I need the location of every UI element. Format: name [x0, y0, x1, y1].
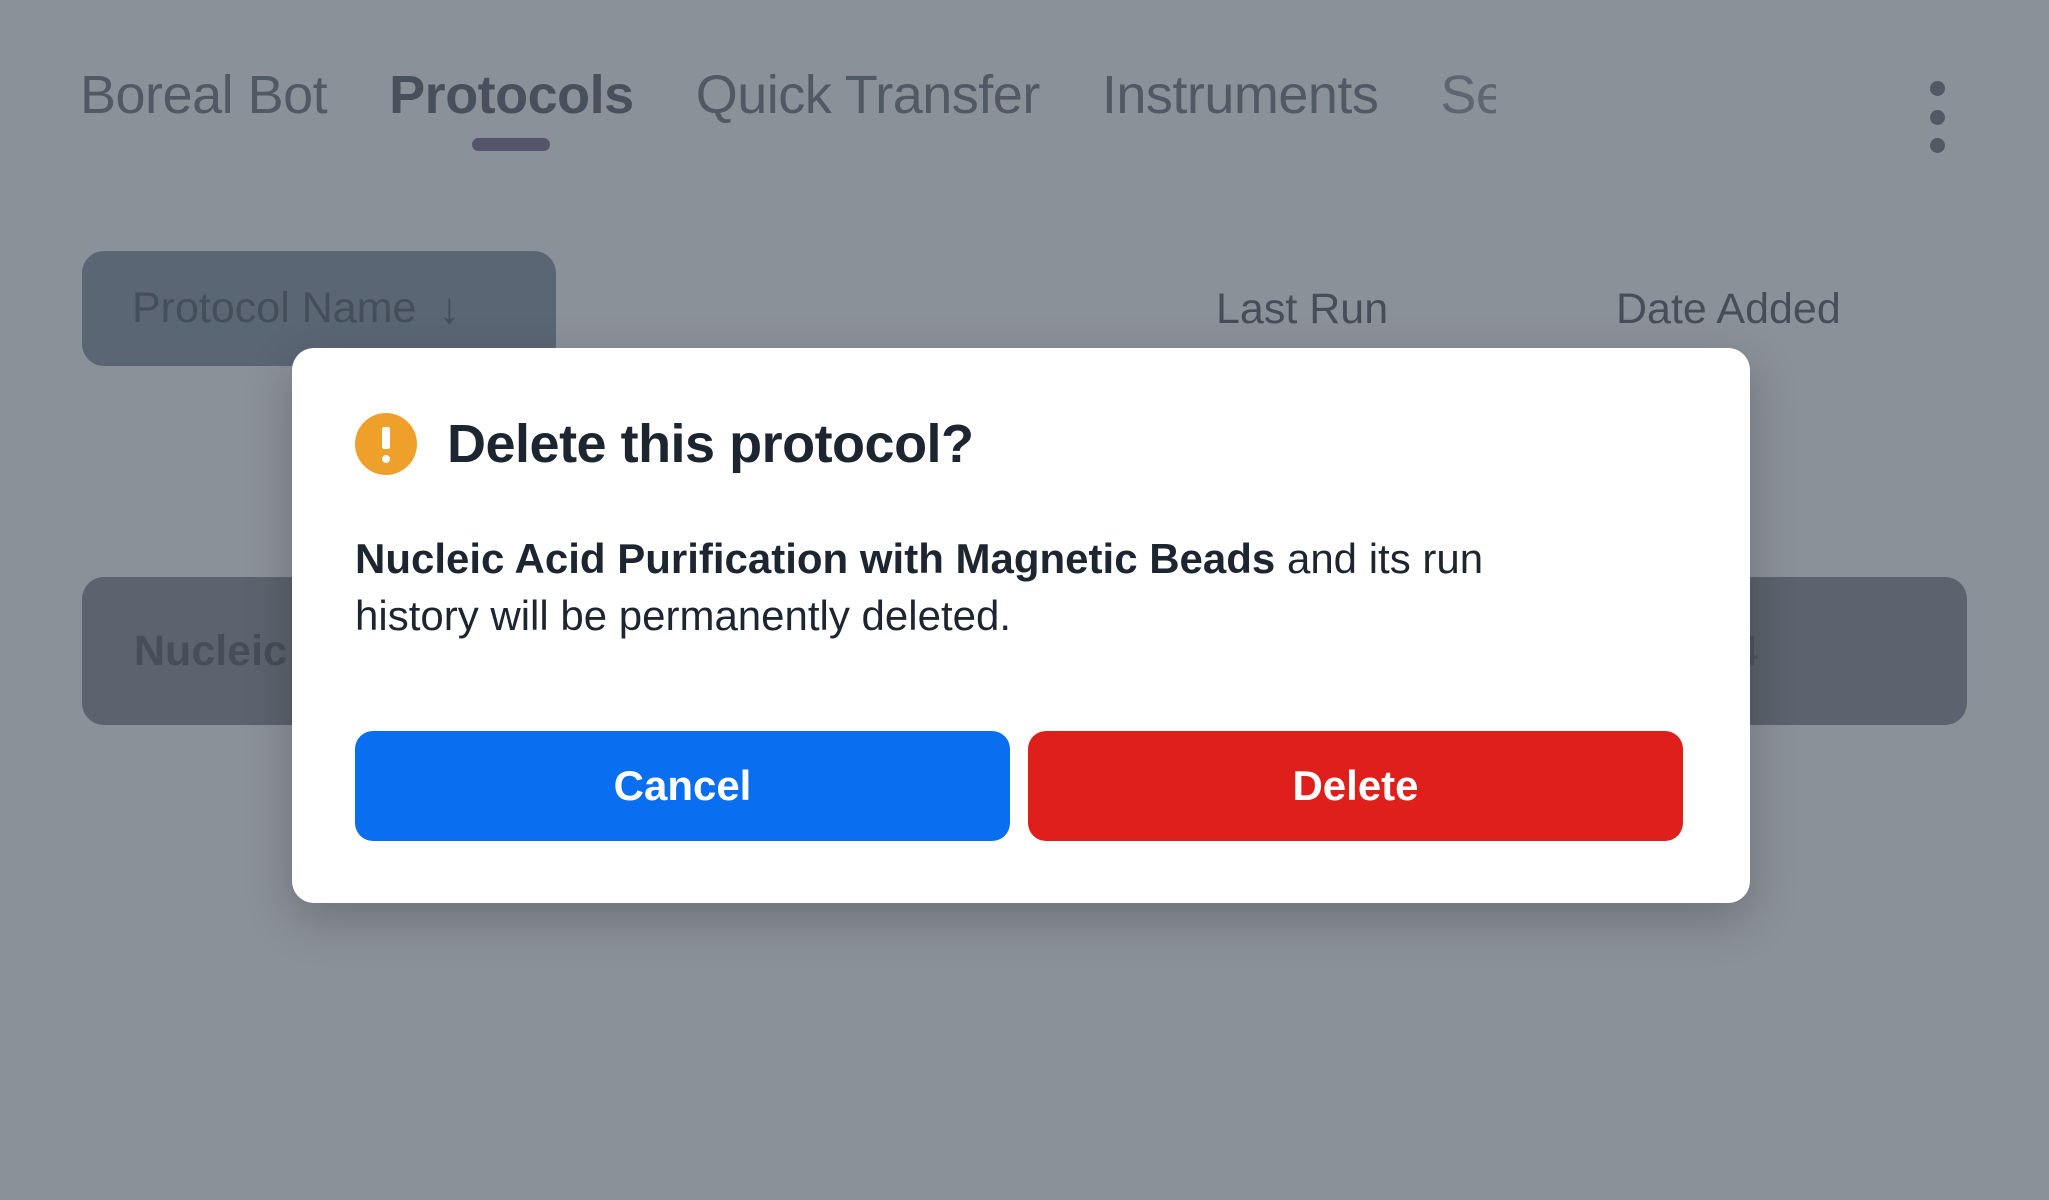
exclamation-stem [382, 427, 390, 449]
cancel-button[interactable]: Cancel [355, 731, 1010, 841]
dialog-body-text: Nucleic Acid Purification with Magnetic … [355, 530, 1555, 644]
dialog-action-buttons: Cancel Delete [355, 731, 1683, 841]
dialog-protocol-name: Nucleic Acid Purification with Magnetic … [355, 535, 1275, 582]
dialog-header: Delete this protocol? [355, 408, 1687, 480]
dialog-title: Delete this protocol? [447, 413, 974, 475]
delete-protocol-dialog: Delete this protocol? Nucleic Acid Purif… [292, 348, 1750, 903]
delete-button[interactable]: Delete [1028, 731, 1683, 841]
alert-exclamation-icon [355, 413, 417, 475]
exclamation-dot [382, 455, 390, 463]
